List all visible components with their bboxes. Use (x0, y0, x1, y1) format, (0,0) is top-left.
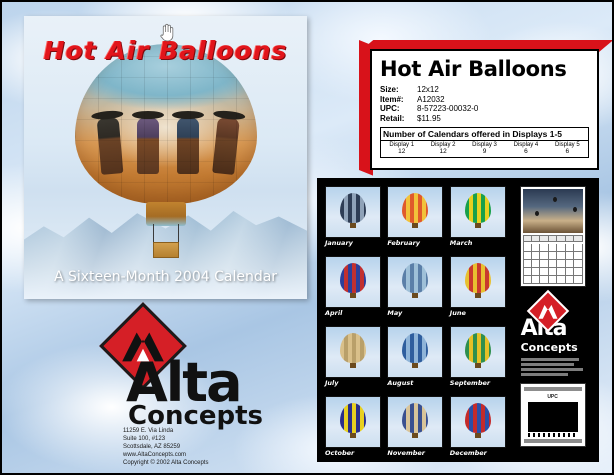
calendar-day-cell[interactable] (566, 276, 574, 284)
spec-value: 8-57223-00032-0 (417, 104, 478, 114)
month-thumbnail (325, 396, 381, 448)
panel-right-column: Alta Concepts UPC (514, 186, 591, 454)
balloon-rider-4 (212, 117, 240, 175)
spec-key: Size: (380, 85, 417, 95)
calendar-day-cell[interactable] (532, 252, 540, 260)
calendar-day-cell[interactable] (557, 252, 565, 260)
calendar-day-cell[interactable] (549, 244, 557, 252)
calendar-day-cell[interactable] (524, 260, 532, 268)
month-label: July (325, 379, 383, 387)
calendar-weekday-header (566, 236, 574, 242)
displays-table-caption: Number of Calendars offered in Displays … (381, 128, 588, 141)
display-col-1: Display 1 12 (381, 141, 422, 157)
balloon-rider-3 (177, 118, 199, 174)
concepts-wordmark: Concepts (521, 341, 589, 354)
month-label: September (450, 379, 508, 387)
calendar-day-cell[interactable] (549, 252, 557, 260)
month-preview-april[interactable]: April (325, 256, 383, 324)
balloon-shape (402, 333, 428, 363)
month-preview-march[interactable]: March (450, 186, 508, 254)
calendar-weekday-header (540, 236, 548, 242)
upc-label: UPC (524, 394, 582, 400)
balloon-shape (340, 193, 366, 223)
calendar-day-cell[interactable] (574, 268, 582, 276)
copyright-line: Copyright © 2002 Alta Concepts (123, 459, 208, 467)
month-preview-february[interactable]: February (387, 186, 445, 254)
calendar-day-cell[interactable] (524, 268, 532, 276)
box-front-face: Hot Air Balloons Size: 12x12 Item#: A120… (370, 49, 599, 170)
month-previews-panel: JanuaryFebruaryMarchAprilMayJuneJulyAugu… (317, 178, 599, 462)
month-label: December (450, 449, 508, 457)
calendar-weekday-header (574, 236, 582, 242)
calendar-day-cell[interactable] (557, 268, 565, 276)
spec-value: 12x12 (417, 85, 439, 95)
calendar-weekday-header (557, 236, 565, 242)
calendar-day-cell[interactable] (566, 252, 574, 260)
calendar-day-cell[interactable] (574, 260, 582, 268)
calendar-day-cell[interactable] (557, 260, 565, 268)
product-info-box: Hot Air Balloons Size: 12x12 Item#: A120… (359, 40, 599, 170)
display-value: 12 (381, 148, 422, 155)
calendar-day-cell[interactable] (549, 260, 557, 268)
barcode-digits (528, 433, 578, 437)
calendar-day-cell[interactable] (540, 276, 548, 284)
address-line: Scottsdale, AZ 85259 (123, 443, 208, 451)
displays-table-row: Display 1 12 Display 2 12 Display 3 9 Di… (381, 141, 588, 157)
cover-subtitle: A Sixteen-Month 2004 Calendar (24, 269, 307, 285)
month-thumbnail (387, 256, 443, 308)
month-thumbnail (325, 326, 381, 378)
month-thumbnail (325, 256, 381, 308)
months-grid: JanuaryFebruaryMarchAprilMayJuneJulyAugu… (325, 186, 508, 454)
sample-calendar-grid (523, 235, 583, 284)
month-preview-november[interactable]: November (387, 396, 445, 464)
mountain-peak-icon (535, 298, 561, 324)
balloon-lines (153, 224, 179, 244)
calendar-day-cell[interactable] (540, 244, 548, 252)
spec-row-retail: Retail: $11.95 (380, 114, 589, 124)
calendar-day-cell[interactable] (540, 252, 548, 260)
spec-row-size: Size: 12x12 (380, 85, 589, 95)
month-preview-july[interactable]: July (325, 326, 383, 394)
calendar-day-cell[interactable] (557, 244, 565, 252)
balloon-shape (402, 263, 428, 293)
month-label: June (450, 309, 508, 317)
sample-calendar-page (520, 186, 586, 287)
display-value: 6 (547, 148, 588, 155)
calendar-day-cell[interactable] (524, 244, 532, 252)
month-label: February (387, 239, 445, 247)
month-preview-august[interactable]: August (387, 326, 445, 394)
balloon-shape (340, 403, 366, 433)
month-preview-january[interactable]: January (325, 186, 383, 254)
month-thumbnail (387, 186, 443, 238)
calendar-day-cell[interactable] (566, 268, 574, 276)
spec-value: A12032 (417, 95, 445, 105)
upc-barcode-box: UPC (520, 383, 586, 447)
balloon-shape (402, 403, 428, 433)
calendar-cover[interactable]: Hot Air Balloons A Sixteen-Month 2004 Ca… (24, 16, 307, 299)
calendar-day-cell[interactable] (557, 276, 565, 284)
month-thumbnail (450, 186, 506, 238)
product-specs: Size: 12x12 Item#: A12032 UPC: 8-57223-0… (380, 85, 589, 123)
calendar-day-cell[interactable] (532, 276, 540, 284)
alta-concepts-logo: Alta Concepts 11259 E. Via Linda Suite 1… (102, 315, 272, 465)
calendar-day-cell[interactable] (532, 268, 540, 276)
balloon-shape (465, 403, 491, 433)
month-thumbnail (450, 396, 506, 448)
balloon-shape (465, 263, 491, 293)
month-preview-september[interactable]: September (450, 326, 508, 394)
month-thumbnail (450, 256, 506, 308)
spec-key: UPC: (380, 104, 417, 114)
month-thumbnail (450, 326, 506, 378)
display-col-2: Display 2 12 (422, 141, 463, 157)
calendar-weekday-header (549, 236, 557, 242)
address-line: Suite 100, #123 (123, 435, 208, 443)
cover-balloon (75, 44, 257, 204)
month-thumbnail (387, 396, 443, 448)
calendar-weekday-header (532, 236, 540, 242)
month-thumbnail (387, 326, 443, 378)
poster-page: Hot Air Balloons A Sixteen-Month 2004 Ca… (0, 0, 614, 475)
panel-text-lines (521, 358, 589, 376)
calendar-day-cell[interactable] (532, 244, 540, 252)
product-title: Hot Air Balloons (380, 57, 589, 81)
balloon-rider-1 (96, 117, 123, 175)
balloon-basket (153, 242, 179, 258)
display-value: 9 (464, 148, 505, 155)
company-address: 11259 E. Via Linda Suite 100, #123 Scott… (123, 427, 208, 467)
display-col-4: Display 4 6 (505, 141, 546, 157)
calendar-day-cell[interactable] (549, 276, 557, 284)
month-preview-december[interactable]: December (450, 396, 508, 464)
display-col-5: Display 5 6 (547, 141, 588, 157)
month-label: August (387, 379, 445, 387)
balloon-shape (340, 333, 366, 363)
calendar-day-cell[interactable] (574, 252, 582, 260)
website-line: www.AltaConcepts.com (123, 451, 208, 459)
month-preview-october[interactable]: October (325, 396, 383, 464)
month-label: April (325, 309, 383, 317)
spec-row-item: Item#: A12032 (380, 95, 589, 105)
balloon-shape (402, 193, 428, 223)
spec-key: Item#: (380, 95, 417, 105)
month-label: November (387, 449, 445, 457)
calendar-day-cell[interactable] (566, 260, 574, 268)
calendar-day-cell[interactable] (524, 276, 532, 284)
displays-table: Number of Calendars offered in Displays … (380, 127, 589, 158)
calendar-day-cell[interactable] (524, 252, 532, 260)
calendar-day-cell[interactable] (574, 276, 582, 284)
spec-row-upc: UPC: 8-57223-00032-0 (380, 104, 589, 114)
month-label: January (325, 239, 383, 247)
month-label: May (387, 309, 445, 317)
calendar-day-cell[interactable] (540, 260, 548, 268)
panel-alta-logo: Alta Concepts (517, 292, 589, 378)
balloon-rider-2 (137, 118, 159, 174)
display-col-3: Display 3 9 (464, 141, 505, 157)
address-line: 11259 E. Via Linda (123, 427, 208, 435)
month-thumbnail (325, 186, 381, 238)
spec-value: $11.95 (417, 114, 441, 124)
calendar-day-cell[interactable] (540, 268, 548, 276)
calendar-day-cell[interactable] (566, 244, 574, 252)
spec-key: Retail: (380, 114, 417, 124)
calendar-day-cell[interactable] (549, 268, 557, 276)
sample-calendar-photo (523, 189, 583, 233)
balloon-shape (465, 193, 491, 223)
month-preview-june[interactable]: June (450, 256, 508, 324)
calendar-day-cell[interactable] (574, 244, 582, 252)
upc-bottom-bar (524, 439, 582, 443)
balloon-throat (146, 202, 186, 226)
cover-title: Hot Air Balloons (24, 36, 307, 65)
barcode-icon (528, 402, 578, 432)
balloon-shape (465, 333, 491, 363)
month-label: October (325, 449, 383, 457)
month-preview-may[interactable]: May (387, 256, 445, 324)
calendar-weekday-header (524, 236, 532, 242)
balloon-shape (340, 263, 366, 293)
month-label: March (450, 239, 508, 247)
upc-top-bar (524, 387, 582, 391)
display-value: 6 (505, 148, 546, 155)
display-value: 12 (422, 148, 463, 155)
calendar-day-cell[interactable] (532, 260, 540, 268)
